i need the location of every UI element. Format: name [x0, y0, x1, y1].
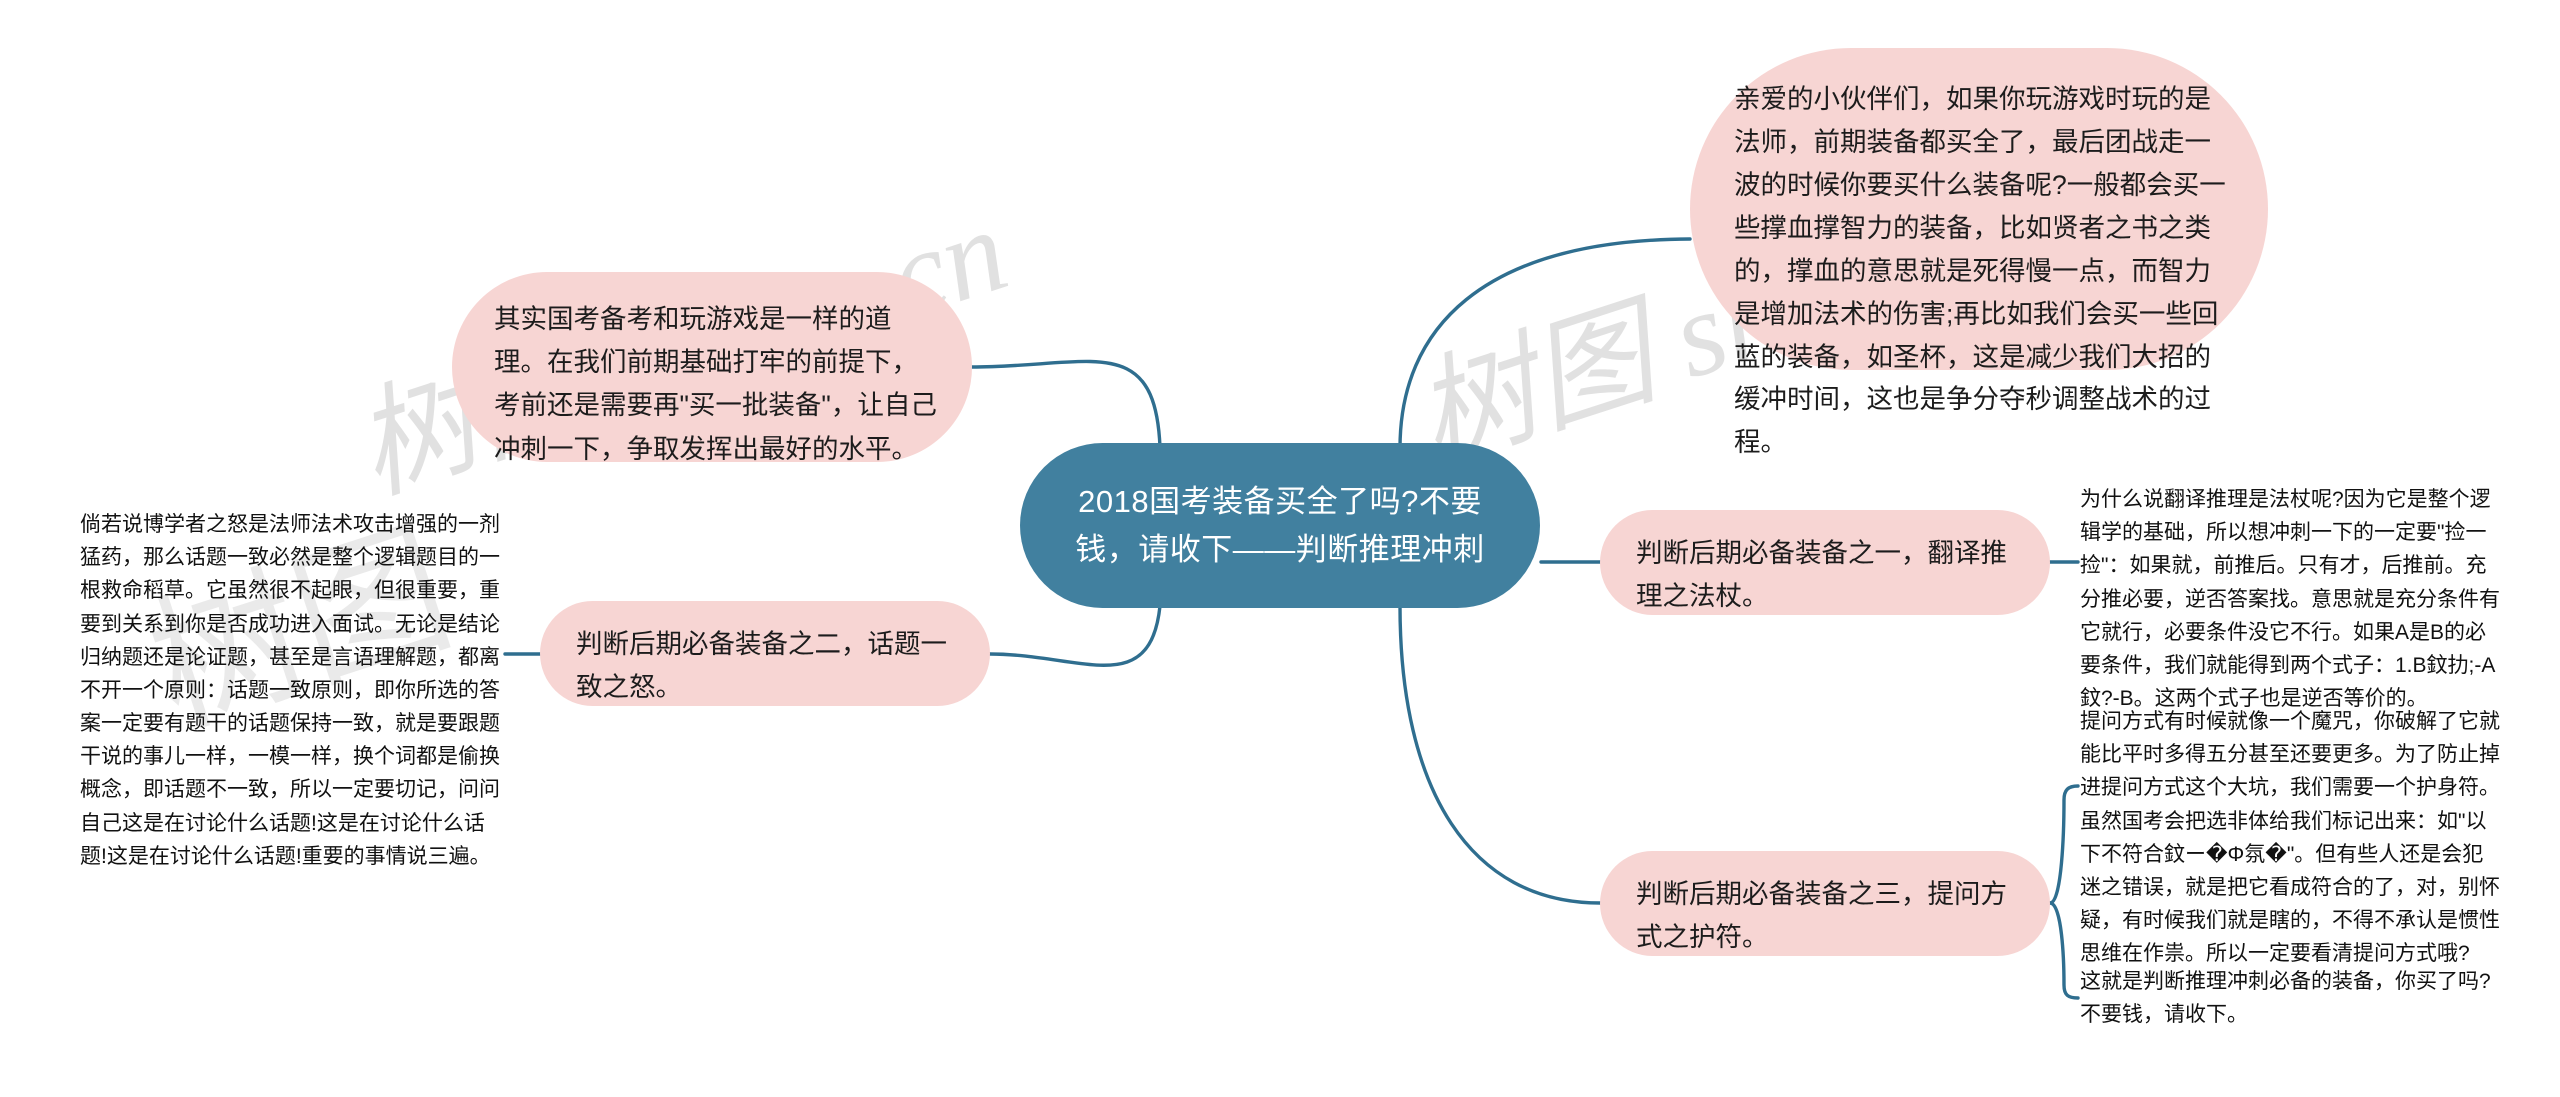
- branch-node-text: 其实国考备考和玩游戏是一样的道理。在我们前期基础打牢的前提下，考前还是需要再"买…: [494, 298, 942, 471]
- branch-node-gear-one[interactable]: 判断后期必备装备之一，翻译推理之法杖。: [1600, 510, 2050, 615]
- branch-node-gear-two[interactable]: 判断后期必备装备之二，话题一致之怒。: [540, 601, 990, 706]
- connector-central-to-intro-exam: [972, 361, 1160, 447]
- connector-gear3-to-closing-detail: [2050, 903, 2078, 998]
- branch-node-intro-exam[interactable]: 其实国考备考和玩游戏是一样的道理。在我们前期基础打牢的前提下，考前还是需要再"买…: [452, 272, 972, 462]
- central-node-title: 2018国考装备买全了吗?不要钱，请收下——判断推理冲刺: [1056, 478, 1504, 572]
- branch-node-gear-three[interactable]: 判断后期必备装备之三，提问方式之护符。: [1600, 851, 2050, 956]
- connector-central-to-gear3: [1400, 606, 1600, 903]
- connector-central-to-gear2: [990, 606, 1160, 665]
- connector-gear3-to-question-detail: [2050, 786, 2078, 903]
- connector-central-to-intro-game: [1400, 239, 1690, 448]
- leaf-text-question-type[interactable]: 提问方式有时候就像一个魔咒，你破解了它就能比平时多得五分甚至还要更多。为了防止掉…: [2080, 705, 2500, 970]
- leaf-text-translation-reasoning[interactable]: 为什么说翻译推理是法杖呢?因为它是整个逻辑学的基础，所以想冲刺一下的一定要"捡一…: [2080, 483, 2500, 715]
- branch-node-text: 判断后期必备装备之一，翻译推理之法杖。: [1636, 532, 2024, 618]
- branch-node-intro-game[interactable]: 亲爱的小伙伴们，如果你玩游戏时玩的是法师，前期装备都买全了，最后团战走一波的时候…: [1690, 48, 2268, 370]
- branch-node-text: 亲爱的小伙伴们，如果你玩游戏时玩的是法师，前期装备都买全了，最后团战走一波的时候…: [1734, 78, 2234, 464]
- mindmap-canvas: 树图 shutu.cn 树图 shutu.cn 树图 亲爱的小伙伴们，如果你玩游…: [0, 0, 2560, 1097]
- central-node[interactable]: 2018国考装备买全了吗?不要钱，请收下——判断推理冲刺: [1020, 443, 1540, 608]
- branch-node-text: 判断后期必备装备之二，话题一致之怒。: [576, 623, 964, 709]
- branch-node-text: 判断后期必备装备之三，提问方式之护符。: [1636, 873, 2024, 959]
- leaf-text-topic-consistency[interactable]: 倘若说博学者之怒是法师法术攻击增强的一剂猛药，那么话题一致必然是整个逻辑题目的一…: [80, 508, 500, 873]
- leaf-text-closing[interactable]: 这就是判断推理冲刺必备的装备，你买了吗?不要钱，请收下。: [2080, 965, 2500, 1031]
